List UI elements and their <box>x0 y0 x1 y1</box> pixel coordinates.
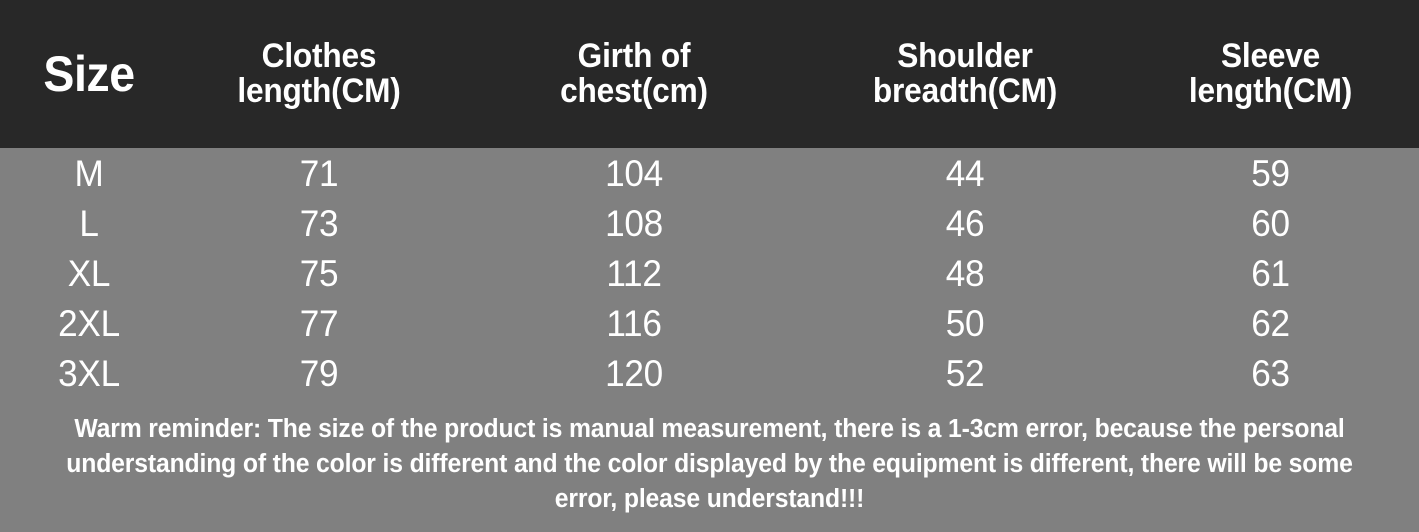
cell-clothes-length: 75 <box>185 255 453 292</box>
table-row: XL 75 112 48 61 <box>0 248 1419 298</box>
column-header-girth-of-chest-line2: chest(cm) <box>560 74 708 109</box>
cell-girth-of-chest: 104 <box>469 155 800 192</box>
column-header-clothes-length-line2: length(CM) <box>237 74 400 109</box>
cell-clothes-length: 77 <box>185 305 453 342</box>
column-header-shoulder-breadth: Shoulder breadth(CM) <box>819 39 1111 110</box>
cell-size: M <box>4 155 173 192</box>
cell-clothes-length: 73 <box>185 205 453 242</box>
table-body: M 71 104 44 59 L 73 108 46 60 XL 75 112 … <box>0 148 1419 398</box>
column-header-shoulder-breadth-line1: Shoulder <box>897 39 1033 74</box>
table-header-row: Size Clothes length(CM) Girth of chest(c… <box>0 0 1419 148</box>
warm-reminder-line3: error, please understand!!! <box>21 482 1397 517</box>
cell-size: 3XL <box>4 355 173 392</box>
cell-girth-of-chest: 108 <box>469 205 800 242</box>
cell-sleeve-length: 62 <box>1129 305 1411 342</box>
table-row: M 71 104 44 59 <box>0 148 1419 198</box>
cell-shoulder-breadth: 46 <box>816 205 1114 242</box>
column-header-shoulder-breadth-line2: breadth(CM) <box>873 74 1057 109</box>
cell-clothes-length: 71 <box>185 155 453 192</box>
column-header-clothes-length: Clothes length(CM) <box>188 39 450 110</box>
cell-sleeve-length: 59 <box>1129 155 1411 192</box>
cell-sleeve-length: 61 <box>1129 255 1411 292</box>
cell-sleeve-length: 60 <box>1129 205 1411 242</box>
column-header-sleeve-length: Sleeve length(CM) <box>1132 39 1408 110</box>
cell-shoulder-breadth: 44 <box>816 155 1114 192</box>
cell-shoulder-breadth: 50 <box>816 305 1114 342</box>
column-header-sleeve-length-line1: Sleeve <box>1221 39 1320 74</box>
column-header-size-line1: Size <box>43 49 134 99</box>
cell-size: L <box>4 205 173 242</box>
column-header-girth-of-chest-line1: Girth of <box>578 39 691 74</box>
column-header-girth-of-chest: Girth of chest(cm) <box>472 39 796 110</box>
cell-girth-of-chest: 116 <box>469 305 800 342</box>
cell-clothes-length: 79 <box>185 355 453 392</box>
column-header-sleeve-length-line2: length(CM) <box>1189 74 1352 109</box>
cell-size: XL <box>4 255 173 292</box>
table-row: 3XL 79 120 52 63 <box>0 348 1419 398</box>
cell-sleeve-length: 63 <box>1129 355 1411 392</box>
cell-girth-of-chest: 112 <box>469 255 800 292</box>
column-header-size: Size <box>6 49 172 99</box>
cell-shoulder-breadth: 48 <box>816 255 1114 292</box>
cell-shoulder-breadth: 52 <box>816 355 1114 392</box>
cell-girth-of-chest: 120 <box>469 355 800 392</box>
warm-reminder-line1: Warm reminder: The size of the product i… <box>21 412 1397 447</box>
table-row: 2XL 77 116 50 62 <box>0 298 1419 348</box>
table-row: L 73 108 46 60 <box>0 198 1419 248</box>
size-chart: Size Clothes length(CM) Girth of chest(c… <box>0 0 1419 532</box>
cell-size: 2XL <box>4 305 173 342</box>
warm-reminder-line2: understanding of the color is different … <box>21 447 1397 482</box>
column-header-clothes-length-line1: Clothes <box>262 39 377 74</box>
warm-reminder-note: Warm reminder: The size of the product i… <box>21 412 1397 517</box>
